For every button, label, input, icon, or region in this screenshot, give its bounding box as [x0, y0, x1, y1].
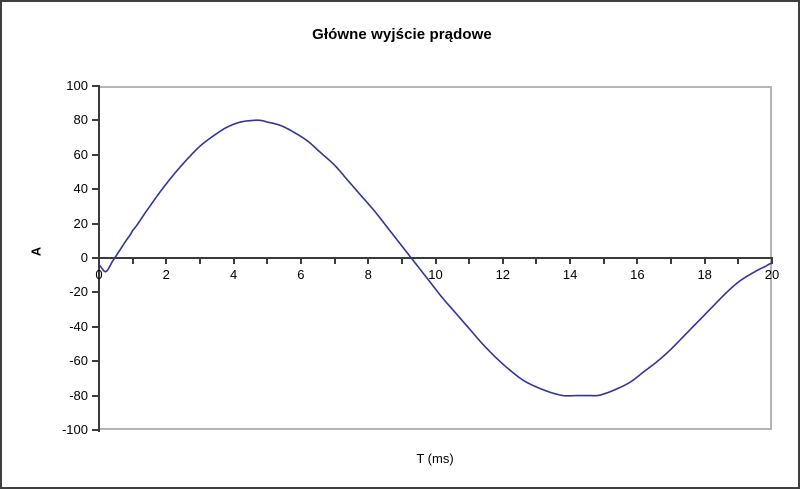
- y-axis-tick-label: -100: [2, 423, 88, 436]
- y-axis-title: A: [29, 238, 44, 266]
- x-axis-tick-label: 12: [483, 267, 523, 282]
- x-axis-tick-label: 6: [281, 267, 321, 282]
- x-axis-tick: [569, 259, 571, 264]
- x-axis-tick: [771, 259, 773, 264]
- y-axis-tick: [92, 85, 98, 87]
- plot-border-bottom: [98, 428, 772, 430]
- y-axis-tick: [92, 154, 98, 156]
- y-axis-tick: [92, 326, 98, 328]
- x-axis-tick: [233, 259, 235, 264]
- x-axis-tick-label: 14: [550, 267, 590, 282]
- x-axis-tick: [636, 259, 638, 264]
- x-axis-title: T (ms): [98, 451, 772, 466]
- y-axis-tick-label: 20: [2, 217, 88, 230]
- y-axis-tick-label: 100: [2, 79, 88, 92]
- y-axis-tick-label: 40: [2, 182, 88, 195]
- y-axis-tick-label: -60: [2, 354, 88, 367]
- x-axis-tick-label: 4: [214, 267, 254, 282]
- y-axis-tick-label: -20: [2, 285, 88, 298]
- x-axis-tick: [300, 259, 302, 264]
- y-axis-tick: [92, 395, 98, 397]
- chart-title: Główne wyjście prądowe: [2, 26, 800, 43]
- x-axis-tick: [502, 259, 504, 264]
- x-axis-tick: [165, 259, 167, 264]
- y-axis-tick: [92, 291, 98, 293]
- x-axis-tick: [132, 259, 134, 264]
- x-axis-tick: [367, 259, 369, 264]
- x-axis-tick: [535, 259, 537, 264]
- x-axis-tick: [435, 259, 437, 264]
- y-axis-tick: [92, 360, 98, 362]
- x-axis-tick-label: 0: [79, 267, 119, 282]
- chart-screenshot: Główne wyjście prądowe 100806040200-20-4…: [0, 0, 800, 489]
- y-axis-tick: [92, 188, 98, 190]
- x-axis-tick: [334, 259, 336, 264]
- y-axis-tick-label: -40: [2, 320, 88, 333]
- x-axis-tick-label: 20: [752, 267, 792, 282]
- x-axis-tick: [737, 259, 739, 264]
- x-axis-tick: [266, 259, 268, 264]
- x-axis-tick: [199, 259, 201, 264]
- x-axis-tick-label: 10: [416, 267, 456, 282]
- y-axis-tick-label: -80: [2, 389, 88, 402]
- x-axis-tick-label: 16: [617, 267, 657, 282]
- x-axis-tick: [98, 259, 100, 264]
- y-axis-tick: [92, 119, 98, 121]
- y-axis-tick: [92, 429, 98, 431]
- y-axis-tick-label: 0: [2, 251, 88, 264]
- x-axis-tick-label: 2: [146, 267, 186, 282]
- x-axis-tick-label: 18: [685, 267, 725, 282]
- x-axis-tick-label: 8: [348, 267, 388, 282]
- plot-border-top: [98, 86, 772, 88]
- x-axis-tick: [401, 259, 403, 264]
- y-axis-tick-label: 60: [2, 148, 88, 161]
- x-axis-tick: [468, 259, 470, 264]
- y-axis-tick: [92, 223, 98, 225]
- y-axis-tick-label: 80: [2, 113, 88, 126]
- x-axis-tick: [704, 259, 706, 264]
- x-axis-tick: [603, 259, 605, 264]
- x-axis-tick: [670, 259, 672, 264]
